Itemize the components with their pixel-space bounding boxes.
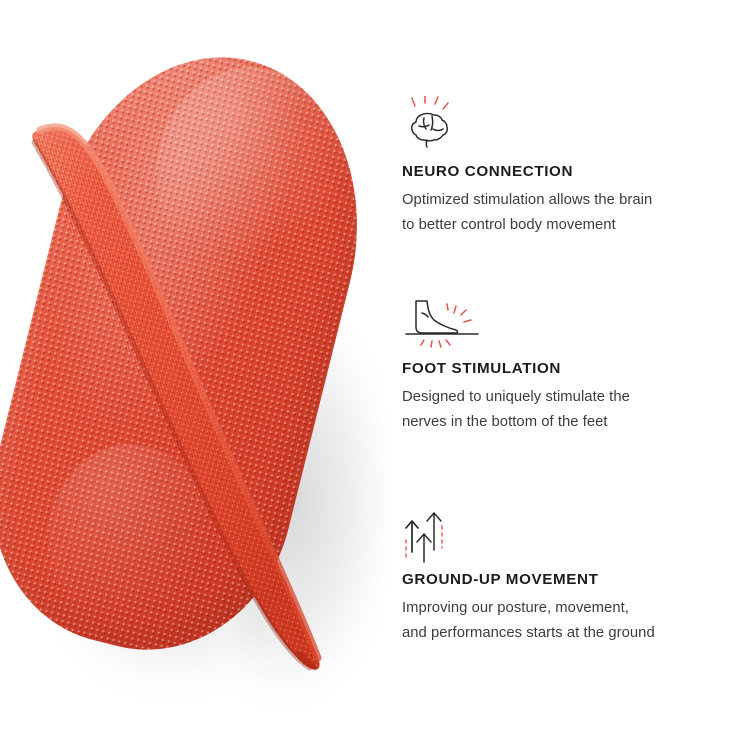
feature-list: NEURO CONNECTION Optimized stimulation a… [402,0,732,750]
feature-description-line: Designed to uniquely stimulate the [402,385,722,410]
foot-outline [416,301,458,333]
product-photo [0,0,385,750]
foot-spark-rays-upper [447,304,471,322]
feature-description-line: Optimized stimulation allows the brain [402,188,722,213]
brain-spark-rays [412,96,448,109]
feature-item-foot-stimulation: FOOT STIMULATION Designed to uniquely st… [402,293,722,435]
feature-description-line: nerves in the bottom of the feet [402,410,722,435]
upward-arrows-icon [402,504,722,562]
feature-description: Designed to uniquely stimulate the nerve… [402,385,722,435]
feature-title: FOOT STIMULATION [402,361,722,378]
insole-standing [6,112,356,672]
feature-description-line: Improving our posture, movement, [402,596,722,621]
feature-description-line: to better control body movement [402,213,722,238]
foot-on-ground-spark-icon [402,293,722,351]
feature-item-neuro-connection: NEURO CONNECTION Optimized stimulation a… [402,96,722,238]
feature-title: NEURO CONNECTION [402,164,722,181]
infographic-canvas: NEURO CONNECTION Optimized stimulation a… [0,0,750,750]
arrow-group [406,513,441,562]
brain-outline [412,114,448,148]
feature-item-ground-up-movement: GROUND-UP MOVEMENT Improving our posture… [402,504,722,646]
foot-spark-rays-lower [421,340,450,347]
feature-title: GROUND-UP MOVEMENT [402,572,722,589]
feature-description: Improving our posture, movement, and per… [402,596,722,646]
brain-spark-icon [402,96,722,154]
feature-description-line: and performances starts at the ground [402,621,722,646]
feature-description: Optimized stimulation allows the brain t… [402,188,722,238]
